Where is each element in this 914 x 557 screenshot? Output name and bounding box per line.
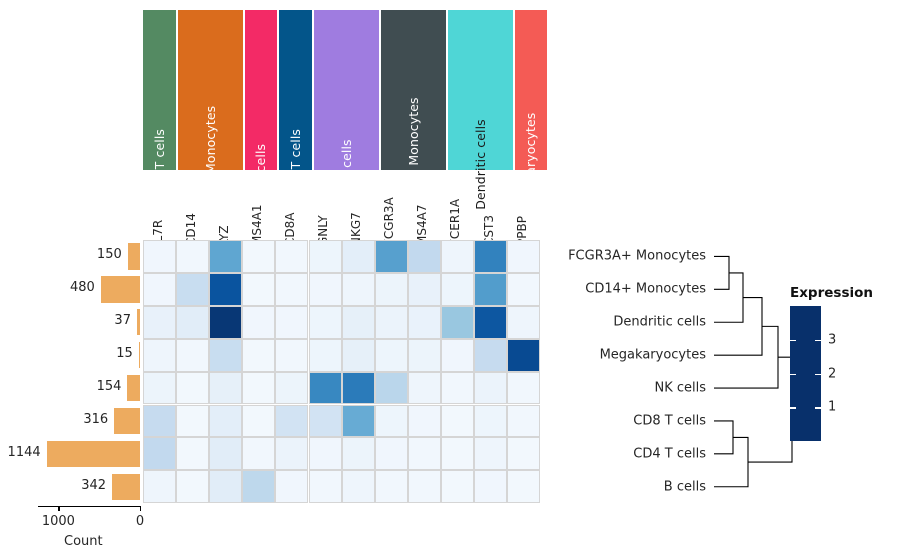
heatmap-cell[interactable] [242,306,275,339]
column-annotation-fcgr3a-monocytes[interactable]: FCGR3A+ Monocytes [381,10,446,170]
column-annotation-label: CD8 T cells [283,128,296,199]
heatmap-cell[interactable] [507,306,540,339]
heatmap-cell[interactable] [176,437,209,470]
column-annotation-label: B cells [249,143,262,184]
heatmap-cell[interactable] [408,339,441,372]
row-label-nk-cells: NK cells [545,381,706,396]
heatmap-cell[interactable] [176,273,209,306]
expression-colorbar-legend: Expression 123 [780,280,910,460]
column-annotation-cd8-t-cells[interactable]: CD8 T cells [279,10,312,170]
count-bar-value-label: 150 [0,247,122,262]
heatmap-cell[interactable] [507,273,540,306]
heatmap-cell[interactable] [176,372,209,405]
count-bar-value-label: 342 [0,478,106,493]
heatmap-cell[interactable] [309,372,342,405]
count-axis-tick-label: 0 [118,514,162,529]
colorbar-tick [790,407,796,409]
heatmap-cell[interactable] [242,339,275,372]
heatmap-cell[interactable] [408,240,441,273]
figure-canvas: CD4 T cellsCD14+ MonocytesB cellsCD8 T c… [0,0,914,557]
heatmap-cell[interactable] [375,240,408,273]
heatmap-cell[interactable] [408,372,441,405]
heatmap-cell[interactable] [209,372,242,405]
colorbar-tick [790,340,796,342]
heatmap-cell[interactable] [275,339,308,372]
row-label-b-cells: B cells [545,479,706,494]
heatmap-cell[interactable] [309,240,342,273]
row-label-fcgr3a-monocytes: FCGR3A+ Monocytes [545,249,706,264]
cell-count-bar-chart[interactable]: Count 1504803715154316114434210000 [0,0,160,557]
heatmap-cell[interactable] [408,470,441,503]
heatmap-cell[interactable] [309,306,342,339]
row-label-cd8-t-cells: CD8 T cells [545,413,706,428]
row-label-cd4-t-cells: CD4 T cells [545,446,706,461]
column-annotation-label: Dendritic cells [468,119,481,210]
heatmap-cell[interactable] [342,372,375,405]
heatmap-cell[interactable] [242,437,275,470]
heatmap-cell[interactable] [176,470,209,503]
heatmap-cell[interactable] [275,306,308,339]
heatmap-cell[interactable] [209,240,242,273]
heatmap-cell[interactable] [342,306,375,339]
heatmap-cell[interactable] [242,273,275,306]
count-axis-title: Count [64,534,103,549]
heatmap-cell[interactable] [176,306,209,339]
heatmap-cell[interactable] [275,405,308,438]
count-bar[interactable] [139,342,140,368]
colorbar-tick [815,374,821,376]
heatmap-cell[interactable] [176,240,209,273]
heatmap-cell[interactable] [408,306,441,339]
heatmap-cell[interactable] [342,273,375,306]
count-bar[interactable] [128,243,140,269]
heatmap-cell[interactable] [474,405,507,438]
heatmap-cell[interactable] [309,339,342,372]
heatmap-cell[interactable] [507,372,540,405]
count-bar-value-label: 480 [0,280,95,295]
column-annotation-label: FCGR3A+ Monocytes [401,97,414,231]
heatmap-cell[interactable] [309,405,342,438]
heatmap-cell[interactable] [342,339,375,372]
count-axis-tick [58,506,59,511]
count-bar[interactable] [112,474,140,500]
heatmap-cell[interactable] [209,273,242,306]
dendrogram-link-tcells [714,421,733,454]
column-annotation-label: NK cells [334,139,347,189]
heatmap-cell[interactable] [474,470,507,503]
count-bar[interactable] [101,276,140,302]
heatmap-cell[interactable] [209,339,242,372]
heatmap-cell[interactable] [375,306,408,339]
count-bar-value-label: 316 [0,412,108,427]
count-axis-tick-label: 1000 [36,514,80,529]
heatmap-cell[interactable] [507,470,540,503]
heatmap-cell[interactable] [441,240,474,273]
count-axis-tick [140,506,141,511]
heatmap-cell[interactable] [342,437,375,470]
expression-heatmap[interactable] [143,240,540,503]
heatmap-cell[interactable] [507,405,540,438]
heatmap-cell[interactable] [242,405,275,438]
count-bar-value-label: 15 [0,346,133,361]
heatmap-cell[interactable] [275,470,308,503]
row-label-megakaryocytes: Megakaryocytes [545,348,706,363]
heatmap-cell[interactable] [209,470,242,503]
heatmap-cell[interactable] [474,372,507,405]
count-bar-value-label: 37 [0,313,131,328]
heatmap-cell[interactable] [375,339,408,372]
heatmap-cell[interactable] [375,405,408,438]
heatmap-cell[interactable] [309,470,342,503]
row-label-cd14-monocytes: CD14+ Monocytes [545,282,706,297]
heatmap-cell[interactable] [507,240,540,273]
count-bar-value-label: 1144 [0,445,41,460]
heatmap-cell[interactable] [275,437,308,470]
heatmap-cell[interactable] [275,240,308,273]
colorbar-title: Expression [790,285,873,301]
heatmap-cell[interactable] [507,437,540,470]
heatmap-cell[interactable] [209,306,242,339]
heatmap-cell[interactable] [441,339,474,372]
gene-label-fcer1a: FCER1A [448,199,462,246]
count-bar[interactable] [47,441,140,467]
heatmap-cell[interactable] [441,437,474,470]
heatmap-cell[interactable] [375,470,408,503]
colorbar-tick-label: 1 [828,400,836,415]
gene-label-fcgr3a: FCGR3A [382,197,396,246]
heatmap-cell[interactable] [242,240,275,273]
count-axis-line [38,506,141,507]
row-label-dendritic-cells: Dendritic cells [545,315,706,330]
heatmap-cell[interactable] [441,306,474,339]
dendrogram-link-myeloid [714,298,762,356]
heatmap-cell[interactable] [375,372,408,405]
heatmap-cell[interactable] [441,405,474,438]
heatmap-cell[interactable] [342,470,375,503]
heatmap-cell[interactable] [342,405,375,438]
heatmap-cell[interactable] [209,405,242,438]
heatmap-cell[interactable] [474,339,507,372]
dendrogram-link-myeloid-nk [714,326,778,388]
heatmap-cell[interactable] [242,470,275,503]
heatmap-cell[interactable] [474,306,507,339]
count-bar[interactable] [114,408,140,434]
heatmap-cell[interactable] [474,437,507,470]
heatmap-cell[interactable] [209,437,242,470]
column-annotation-nk-cells[interactable]: NK cells [314,10,379,170]
heatmap-cell[interactable] [275,372,308,405]
column-annotation-label: CD14+ Monocytes [198,105,211,223]
count-bar[interactable] [127,375,140,401]
heatmap-cell[interactable] [408,273,441,306]
dendrogram-link-lymphoid [714,437,748,486]
colorbar-tick-label: 3 [828,332,836,347]
heatmap-cell[interactable] [309,273,342,306]
dendrogram-link-mono [714,256,729,289]
column-annotation-b-cells[interactable]: B cells [245,10,277,170]
colorbar-tick [815,340,821,342]
heatmap-cell[interactable] [342,240,375,273]
heatmap-cell[interactable] [309,437,342,470]
heatmap-cell[interactable] [408,437,441,470]
heatmap-cell[interactable] [474,240,507,273]
heatmap-cell[interactable] [242,372,275,405]
colorbar-tick-label: 2 [828,366,836,381]
count-bar[interactable] [137,309,140,335]
heatmap-cell[interactable] [375,273,408,306]
colorbar-tick [790,374,796,376]
column-annotation-cd14-monocytes[interactable]: CD14+ Monocytes [178,10,243,170]
heatmap-cell[interactable] [176,405,209,438]
heatmap-cell[interactable] [474,273,507,306]
column-annotation-dendritic-cells[interactable]: Dendritic cells [448,10,513,170]
heatmap-cell[interactable] [375,437,408,470]
heatmap-cell[interactable] [441,372,474,405]
heatmap-cell[interactable] [408,405,441,438]
heatmap-cell[interactable] [176,339,209,372]
heatmap-cell[interactable] [507,339,540,372]
heatmap-cell[interactable] [275,273,308,306]
heatmap-cell[interactable] [441,470,474,503]
count-bar-value-label: 154 [0,379,121,394]
column-annotation-megakaryocytes[interactable]: Megakaryocytes [515,10,547,170]
column-annotation-label: Megakaryocytes [519,112,532,216]
colorbar-tick [815,407,821,409]
heatmap-cell[interactable] [441,273,474,306]
